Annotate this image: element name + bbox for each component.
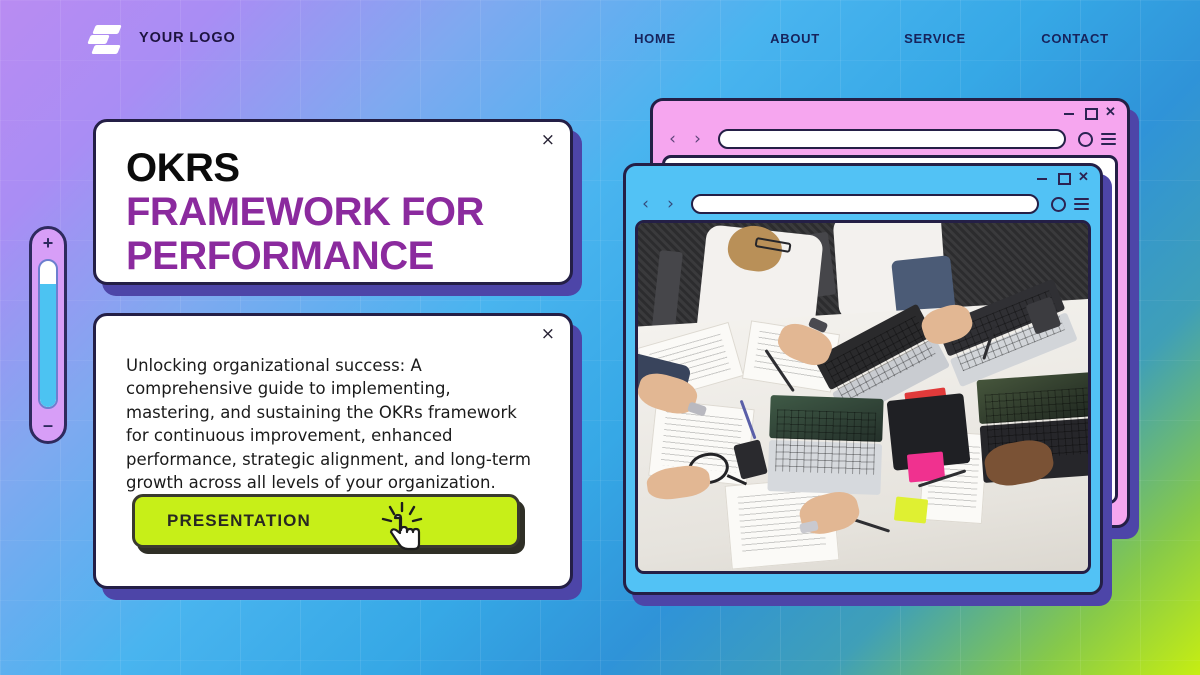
forward-arrow-icon[interactable]: ›	[662, 194, 679, 214]
page-title-line3: PERFORMANCE	[126, 235, 540, 277]
description-text: Unlocking organizational success: A comp…	[126, 354, 540, 495]
browser-toolbar: ‹ ›	[626, 188, 1100, 220]
maximize-icon[interactable]	[1057, 171, 1069, 183]
nav-item-contact[interactable]: CONTACT	[1005, 31, 1145, 46]
browser-window-front[interactable]: ✕ ‹ ›	[623, 163, 1103, 595]
close-icon[interactable]: ×	[541, 132, 555, 149]
nav-item-about[interactable]: ABOUT	[725, 31, 865, 46]
team-collaboration-photo	[638, 223, 1088, 571]
back-arrow-icon[interactable]: ‹	[637, 194, 654, 214]
zoom-in-button[interactable]: +	[43, 235, 54, 251]
nav-item-service[interactable]: SERVICE	[865, 31, 1005, 46]
description-card: × Unlocking organizational success: A co…	[93, 313, 573, 589]
browser-toolbar: ‹ ›	[653, 123, 1127, 155]
title-card: × OKRS FRAMEWORK FOR PERFORMANCE	[93, 119, 573, 285]
page-title-line1: OKRS	[126, 148, 540, 189]
hamburger-menu-icon[interactable]	[1101, 133, 1116, 145]
click-hand-cursor-icon	[380, 502, 424, 554]
stacked-bars-logo-icon	[86, 18, 126, 58]
window-titlebar: ✕	[626, 166, 1100, 188]
brand-name: YOUR LOGO	[139, 30, 236, 46]
presentation-button[interactable]: PRESENTATION	[132, 494, 520, 548]
back-arrow-icon[interactable]: ‹	[664, 129, 681, 149]
browser-content-front	[635, 220, 1091, 574]
zoom-slider[interactable]: + –	[29, 226, 67, 444]
brand[interactable]: YOUR LOGO	[86, 18, 236, 58]
zoom-slider-track[interactable]	[38, 259, 58, 409]
site-header: YOUR LOGO HOME ABOUT SERVICE CONTACT	[0, 0, 1200, 76]
close-icon[interactable]: ✕	[1105, 106, 1117, 118]
minimize-icon[interactable]	[1063, 106, 1075, 118]
zoom-slider-fill	[40, 284, 56, 407]
forward-arrow-icon[interactable]: ›	[689, 129, 706, 149]
url-input[interactable]	[718, 129, 1066, 149]
maximize-icon[interactable]	[1084, 106, 1096, 118]
url-input[interactable]	[691, 194, 1039, 214]
circle-icon[interactable]	[1051, 197, 1066, 212]
nav-item-home[interactable]: HOME	[585, 31, 725, 46]
presentation-button-label: PRESENTATION	[167, 511, 311, 531]
circle-icon[interactable]	[1078, 132, 1093, 147]
minimize-icon[interactable]	[1036, 171, 1048, 183]
page-title-line2: FRAMEWORK FOR	[126, 191, 540, 233]
close-icon[interactable]: ×	[541, 326, 555, 343]
main-nav: HOME ABOUT SERVICE CONTACT	[585, 31, 1145, 46]
close-icon[interactable]: ✕	[1078, 171, 1090, 183]
zoom-out-button[interactable]: –	[43, 417, 53, 433]
hamburger-menu-icon[interactable]	[1074, 198, 1089, 210]
window-titlebar: ✕	[653, 101, 1127, 123]
